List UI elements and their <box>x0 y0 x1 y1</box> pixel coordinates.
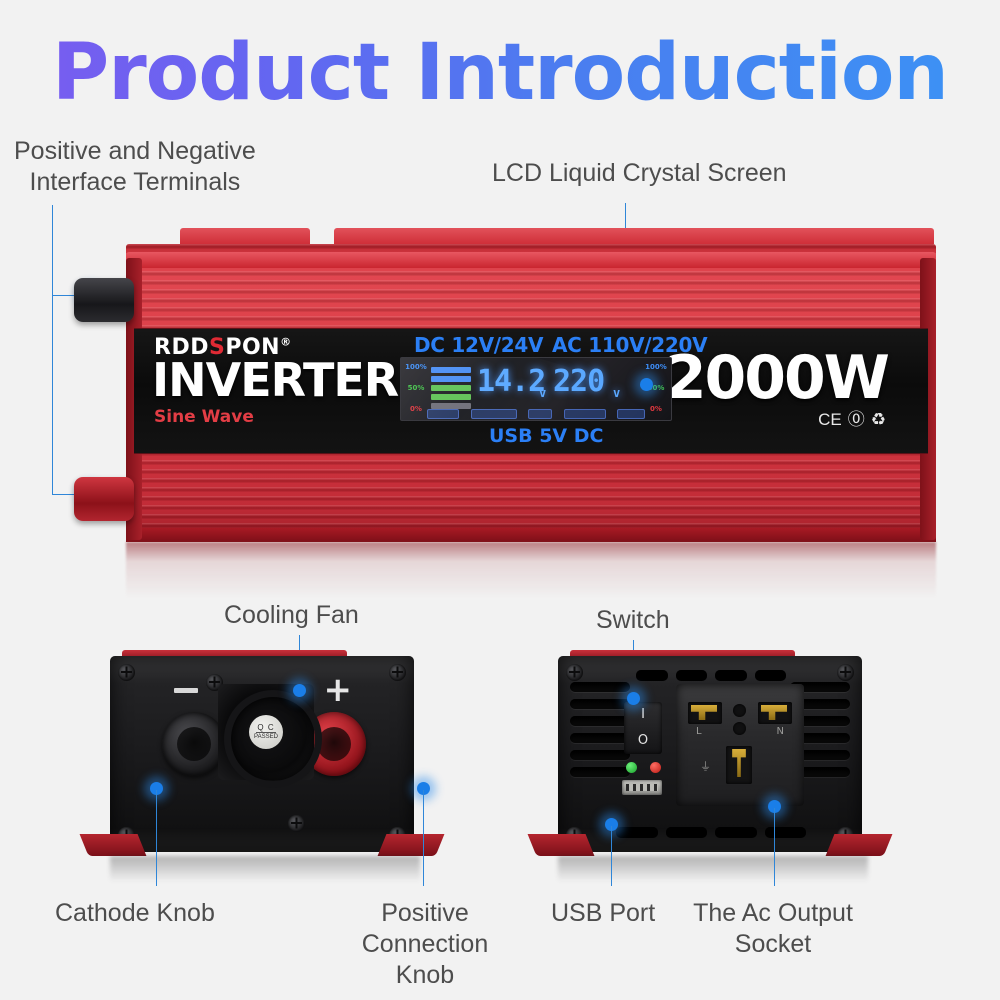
vent-slot <box>616 827 658 838</box>
vent-grille-top <box>636 670 786 681</box>
callout-line-cathode <box>156 790 157 886</box>
power-rating-label: 2000W <box>665 343 888 413</box>
rear-mount-foot-left <box>528 834 595 856</box>
vent-slot <box>715 670 747 681</box>
vent-slot <box>570 733 630 743</box>
rear-screw-top-right <box>837 664 854 681</box>
callout-label-usb: USB Port <box>551 898 655 929</box>
callout-terminals-line2: Interface Terminals <box>14 167 256 198</box>
housing-tab-left <box>180 228 310 244</box>
cathode-knob[interactable] <box>162 712 226 776</box>
vent-slot <box>676 670 708 681</box>
battery-bar-1 <box>431 367 471 373</box>
callout-line-ac-socket <box>774 808 775 886</box>
lcd-segment-5 <box>617 409 645 419</box>
vent-slot <box>636 670 668 681</box>
callout-line-terminals-vertical <box>52 205 53 495</box>
screw-fan-bottom <box>288 815 305 832</box>
ac-socket-slot-neutral <box>758 702 792 724</box>
lcd-segment-4 <box>564 409 606 419</box>
inverter-front-view: + Q C PASSED <box>82 648 442 860</box>
cooling-fan: Q C PASSED <box>218 684 314 780</box>
callout-dot-switch <box>627 692 640 705</box>
fault-led-red <box>650 762 661 773</box>
inverter-rear-view: I O L N ⏚ <box>530 648 890 860</box>
wave-type-label: Sine Wave <box>154 407 254 427</box>
housing-top-lip <box>126 252 936 268</box>
ac-socket-slot-live <box>688 702 722 724</box>
dc-rating-label: DC 12V/24V <box>414 333 543 357</box>
negative-terminal-symbol <box>174 688 198 693</box>
front-mount-foot-right <box>378 834 445 856</box>
callout-label-positive-knob: Positive Connection Knob <box>330 898 520 991</box>
callout-label-lcd: LCD Liquid Crystal Screen <box>492 158 787 189</box>
lcd-segment-2 <box>471 409 517 419</box>
ac-socket-ground-slot <box>726 746 752 784</box>
callout-label-switch: Switch <box>596 605 670 636</box>
inverter-main-view: RDDSPON® INVERTER Sine Wave DC 12V/24V A… <box>126 232 936 542</box>
rear-mount-foot-right <box>826 834 893 856</box>
switch-on-symbol: I <box>641 709 645 721</box>
screw-top-left <box>118 664 135 681</box>
battery-bar-2 <box>431 376 471 382</box>
callout-ac-line1: The Ac Output <box>678 898 868 929</box>
lcd-scale-left: 100% 50% 0% <box>403 363 429 413</box>
battery-bar-5 <box>431 403 471 409</box>
housing-bottom-lip <box>126 528 936 542</box>
lcd-display: 100% 50% 0% 100% 50% 0% 14.2 <box>400 357 672 421</box>
battery-bar-4 <box>431 394 471 400</box>
vent-slot <box>570 767 630 777</box>
vent-slot <box>755 670 787 681</box>
vent-slot <box>715 827 757 838</box>
lcd-ac-value: 220 <box>553 364 604 399</box>
vent-grille-bottom <box>616 827 806 838</box>
power-led-green <box>626 762 637 773</box>
recycle-mark-icon: ♻ <box>871 411 886 428</box>
callout-dot-lcd <box>640 378 653 391</box>
lcd-dc-unit: v <box>539 386 546 400</box>
rear-case: I O L N ⏚ <box>558 656 862 852</box>
vent-slot <box>765 827 807 838</box>
vent-slot <box>570 750 630 760</box>
infographic-stage: Product Introduction Positive and Negati… <box>0 0 1000 1000</box>
power-switch[interactable]: I O <box>624 702 662 754</box>
page-title: Product Introduction <box>0 28 1000 118</box>
qc-passed-sticker: Q C PASSED <box>249 715 283 749</box>
vent-slot <box>570 716 630 726</box>
ce-mark-icon: CE <box>818 411 842 428</box>
vent-slot <box>570 699 630 709</box>
terminal-post-positive <box>74 477 134 521</box>
callout-dot-fan <box>293 684 306 697</box>
battery-level-bars <box>431 367 471 409</box>
callout-line-usb <box>611 826 612 886</box>
ac-output-socket[interactable]: L N ⏚ <box>676 684 804 806</box>
vent-grille-left <box>570 682 630 832</box>
switch-off-symbol: O <box>638 735 648 747</box>
lcd-segment-labels <box>427 409 645 418</box>
callout-label-fan: Cooling Fan <box>224 600 359 631</box>
lcd-ac-unit: v <box>613 386 620 400</box>
lcd-scale-right-low: 0% <box>643 405 669 413</box>
lcd-scale-left-mid: 50% <box>403 384 429 392</box>
ground-symbol-icon: ⏚ <box>700 758 711 774</box>
product-model-name: INVERTER <box>152 353 398 407</box>
callout-terminals-line1: Positive and Negative <box>14 136 256 167</box>
qc-passed-label: PASSED <box>254 733 278 742</box>
rohs-mark-icon: ⓪ <box>848 411 865 428</box>
callout-positive-line2: Connection Knob <box>330 929 520 991</box>
rear-unit-reflection <box>558 856 868 882</box>
callout-positive-line1: Positive <box>330 898 520 929</box>
callout-label-ac-socket: The Ac Output Socket <box>678 898 868 960</box>
lcd-dc-value: 14.2 <box>477 364 545 399</box>
ac-socket-label-l: L <box>696 726 702 737</box>
ac-socket-label-n: N <box>777 726 784 737</box>
rear-screw-top-left <box>566 664 583 681</box>
screw-top-right <box>389 664 406 681</box>
positive-terminal-symbol: + <box>324 678 353 702</box>
lcd-scale-left-high: 100% <box>403 363 429 371</box>
callout-label-terminals: Positive and Negative Interface Terminal… <box>14 136 256 198</box>
certification-icons: CE ⓪ ♻ <box>818 411 886 428</box>
lcd-readout: 14.2 v 220 v <box>477 364 652 404</box>
housing-tab-right <box>334 228 934 244</box>
callout-label-cathode: Cathode Knob <box>55 898 215 929</box>
main-unit-reflection <box>126 542 936 598</box>
vent-slot <box>666 827 708 838</box>
ac-socket-hole-lower <box>733 722 746 735</box>
callout-ac-line2: Socket <box>678 929 868 960</box>
lcd-scale-left-low: 0% <box>403 405 429 413</box>
lcd-segment-3 <box>528 409 552 419</box>
usb-port[interactable] <box>622 780 662 795</box>
vent-slot <box>570 682 630 692</box>
front-label-panel: RDDSPON® INVERTER Sine Wave DC 12V/24V A… <box>134 328 928 454</box>
ac-socket-hole-upper <box>733 704 746 717</box>
lcd-segment-1 <box>427 409 459 419</box>
brand-registered-icon: ® <box>280 336 292 349</box>
qc-label: Q C <box>256 723 275 733</box>
battery-bar-3 <box>431 385 471 391</box>
front-mount-foot-left <box>80 834 147 856</box>
usb-rating-label: USB 5V DC <box>489 425 603 447</box>
terminal-post-negative <box>74 278 134 322</box>
callout-line-positive-knob <box>423 790 424 886</box>
